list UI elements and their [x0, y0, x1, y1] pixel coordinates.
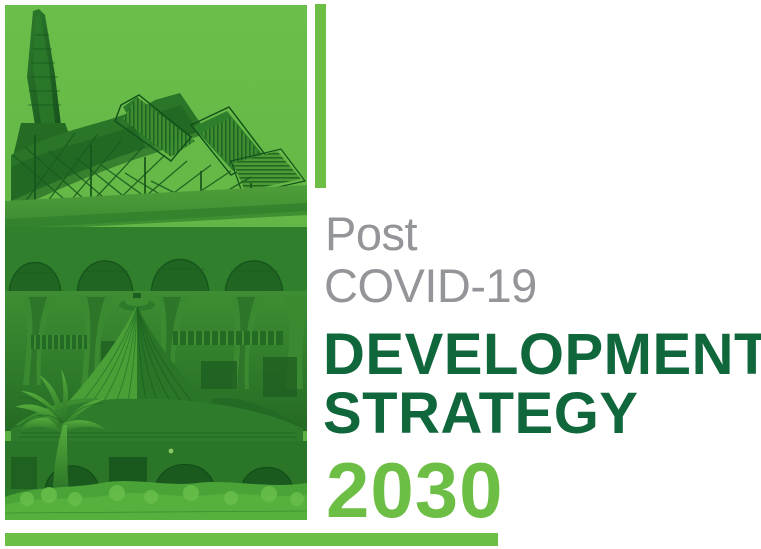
cover-photo	[5, 5, 307, 520]
title-line-year: 2030	[323, 451, 753, 529]
horizontal-accent-bar	[5, 533, 498, 546]
title-line-development: DEVELOPMENT	[323, 326, 753, 384]
cover-title-block: Post COVID-19 DEVELOPMENT STRATEGY 2030	[323, 208, 753, 529]
building-photo-illustration	[5, 5, 307, 520]
cover-page: Post COVID-19 DEVELOPMENT STRATEGY 2030	[0, 0, 761, 549]
title-line-covid: COVID-19	[323, 260, 753, 312]
title-line-post: Post	[323, 208, 753, 260]
title-line-strategy: STRATEGY	[323, 385, 753, 443]
vertical-accent-bar	[315, 4, 326, 188]
